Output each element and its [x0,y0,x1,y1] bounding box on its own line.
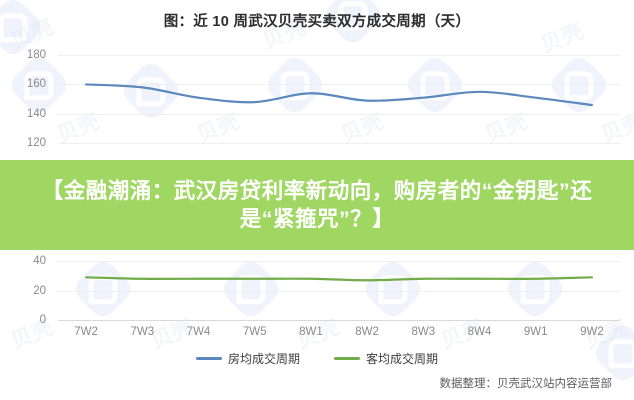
data-source-credit: 数据整理：贝壳武汉站内容运营部 [440,375,613,391]
series-line-kejun [86,277,592,280]
headline-banner-text: 【金融潮涌：武汉房贷利率新动向，购房者的“金钥匙”还是“紧箍咒”？】 [39,177,595,234]
chart-legend: 房均成交周期客均成交周期 [0,350,634,367]
legend-swatch [196,357,222,360]
legend-swatch [334,357,360,360]
headline-banner: 【金融潮涌：武汉房贷利率新动向，购房者的“金钥匙”还是“紧箍咒”？】 [0,160,634,250]
chart-screenshot: 贝壳 贝壳 贝壳 贝壳 贝壳 贝壳 贝壳 贝壳 贝壳 贝壳 贝壳 贝壳 贝壳 图… [0,0,634,400]
chart-title: 图：近 10 周武汉贝壳买卖双方成交周期（天） [0,10,634,31]
legend-label: 客均成交周期 [366,350,438,367]
legend-item[interactable]: 客均成交周期 [334,350,438,367]
legend-item[interactable]: 房均成交周期 [196,350,300,367]
series-line-fangjun [86,84,592,105]
legend-label: 房均成交周期 [228,350,300,367]
